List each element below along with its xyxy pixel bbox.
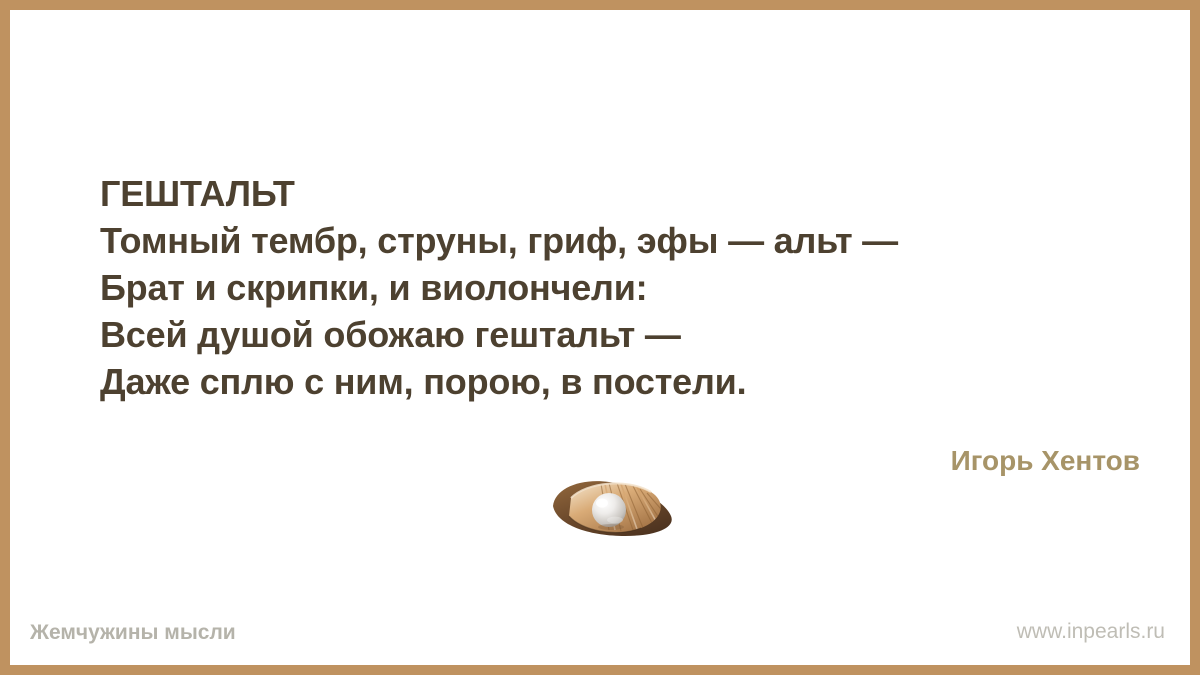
poem-line-1: Томный тембр, струны, гриф, эфы — альт — (100, 217, 1120, 264)
author-name: Игорь Хентов (951, 444, 1140, 478)
site-url[interactable]: www.inpearls.ru (1017, 620, 1165, 644)
poem-line-3: Всей душой обожаю гештальт — (100, 311, 1120, 358)
poem-line-4: Даже сплю с ним, порою, в постели. (100, 358, 1120, 405)
site-name: Жемчужины мысли (30, 621, 236, 645)
poem-line-title: ГЕШТАЛЬТ (100, 170, 1120, 217)
quote-card: ГЕШТАЛЬТ Томный тембр, струны, гриф, эфы… (0, 0, 1200, 675)
poem-line-2: Брат и скрипки, и виолончели: (100, 264, 1120, 311)
seashell-with-pearl-icon (543, 476, 679, 538)
poem-block: ГЕШТАЛЬТ Томный тембр, струны, гриф, эфы… (100, 170, 1120, 405)
